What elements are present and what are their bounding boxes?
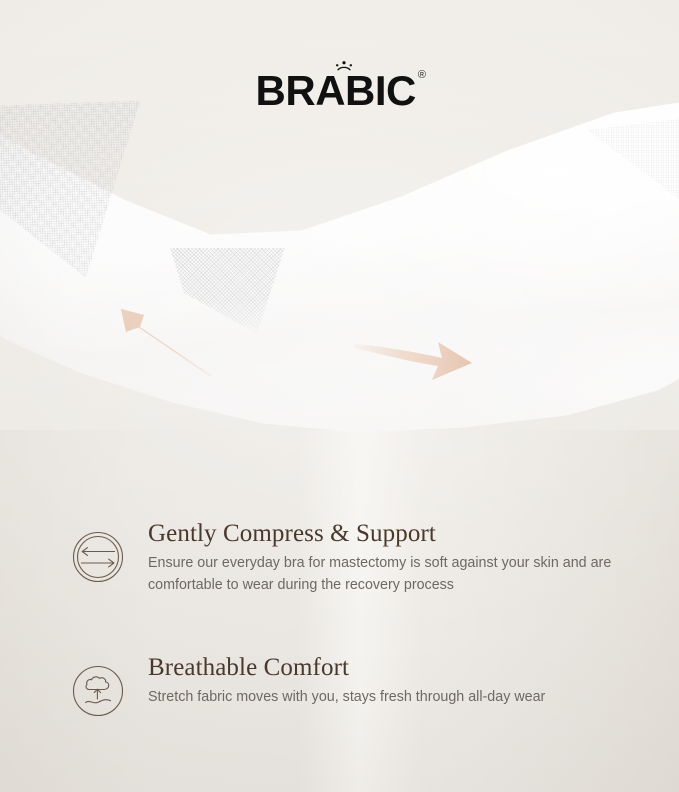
arrow-right-icon (352, 330, 474, 391)
two-way-stretch-arrows-icon (70, 529, 126, 585)
feature-title: Breathable Comfort (148, 654, 545, 682)
feature-description: Ensure our everyday bra for mastectomy i… (148, 553, 618, 597)
brand-name: BRABIC (256, 67, 416, 114)
brand-logo-text: BRABIC® (256, 70, 424, 112)
crown-diacritic-icon (335, 61, 353, 72)
arrow-up-left-icon (104, 300, 216, 383)
brand-logo: BRABIC® (0, 70, 679, 112)
feature-description: Stretch fabric moves with you, stays fre… (148, 687, 545, 709)
feature-item-breathable-comfort: Breathable Comfort Stretch fabric moves … (0, 654, 679, 719)
feature-text-block: Breathable Comfort Stretch fabric moves … (148, 654, 545, 709)
feature-list: Gently Compress & Support Ensure our eve… (0, 520, 679, 719)
product-feature-image: BRABIC® Gently C (0, 0, 679, 792)
feature-item-gently-compress-support: Gently Compress & Support Ensure our eve… (0, 520, 679, 597)
feature-text-block: Gently Compress & Support Ensure our eve… (148, 520, 618, 597)
feature-title: Gently Compress & Support (148, 520, 618, 548)
breathable-cloud-icon (70, 663, 126, 719)
registered-trademark-icon: ® (418, 69, 426, 81)
